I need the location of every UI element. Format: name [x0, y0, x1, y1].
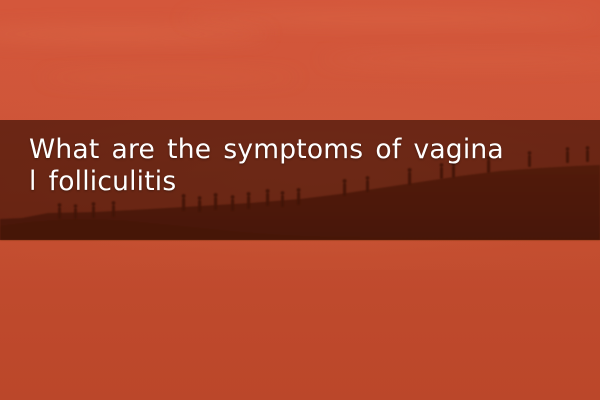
caption-container: What are the symptoms of vagina l follic… — [0, 120, 600, 240]
caption-text: What are the symptoms of vagina l follic… — [29, 134, 586, 198]
image-canvas: What are the symptoms of vagina l follic… — [0, 0, 600, 400]
